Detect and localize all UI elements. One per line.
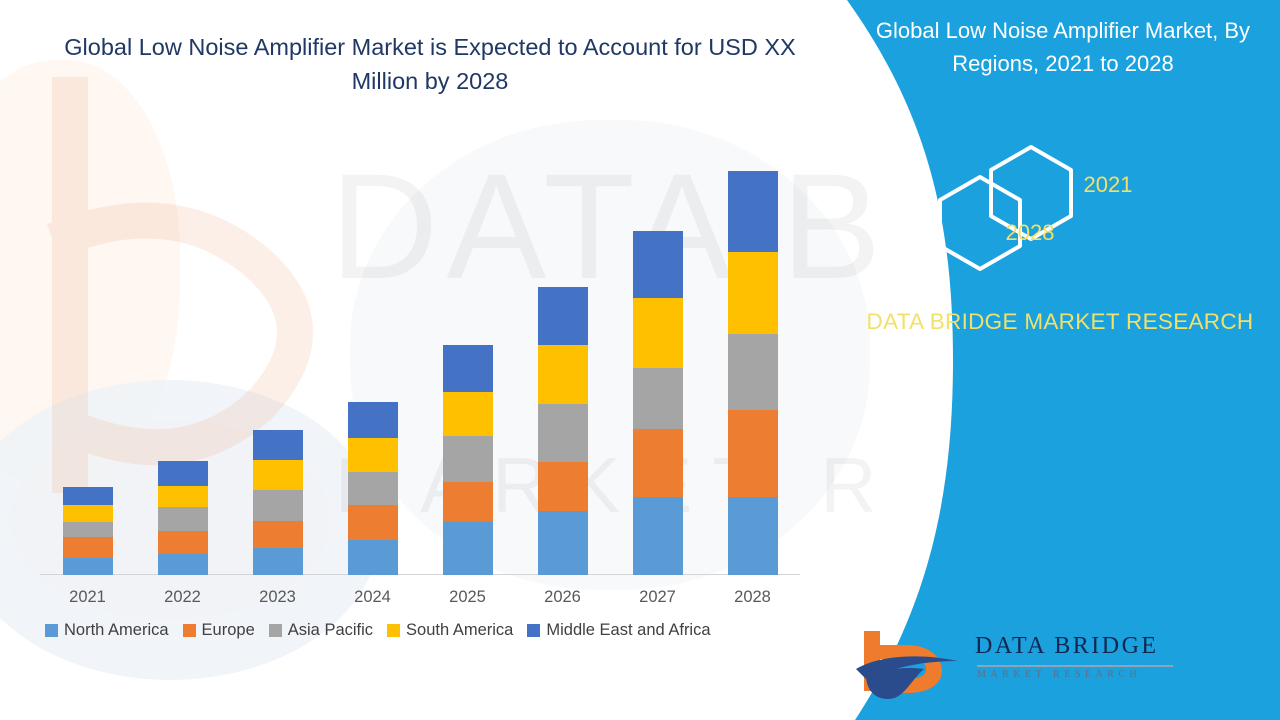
bar-segment[interactable] — [443, 392, 493, 436]
bar-group[interactable] — [348, 402, 398, 575]
bar-segment[interactable] — [63, 537, 113, 558]
x-axis-line — [40, 574, 800, 575]
legend-item[interactable]: South America — [387, 621, 513, 640]
bar-group[interactable] — [253, 430, 303, 575]
hexagon-2021-label: 2021 — [1063, 172, 1153, 198]
legend-item[interactable]: Middle East and Africa — [527, 621, 710, 640]
hexagon-badges — [835, 125, 1280, 270]
bar-segment[interactable] — [63, 558, 113, 575]
chart-panel: DATA BRIDGE MARKET RESEARCH Global Low N… — [0, 0, 900, 720]
bar-segment[interactable] — [443, 436, 493, 483]
x-tick-label: 2028 — [713, 588, 793, 607]
bar-segment[interactable] — [538, 511, 588, 575]
bar-segment[interactable] — [158, 461, 208, 486]
bar-segment[interactable] — [348, 438, 398, 472]
chart-plot-area — [40, 150, 800, 575]
x-tick-label: 2021 — [48, 588, 128, 607]
logo-title-text: DATA BRIDGE — [975, 633, 1159, 660]
bar-segment[interactable] — [63, 487, 113, 506]
legend-label: Europe — [202, 621, 255, 640]
bar-segment[interactable] — [728, 171, 778, 253]
logo-mark-icon — [850, 625, 970, 703]
x-tick-label: 2023 — [238, 588, 318, 607]
legend-swatch — [527, 624, 540, 637]
bar-segment[interactable] — [348, 505, 398, 540]
x-axis-tick-labels: 20212022202320242025202620272028 — [40, 588, 800, 614]
bar-segment[interactable] — [538, 287, 588, 345]
brand-panel: Global Low Noise Amplifier Market, By Re… — [835, 0, 1280, 720]
bar-segment[interactable] — [443, 345, 493, 392]
legend-item[interactable]: Asia Pacific — [269, 621, 373, 640]
legend-swatch — [269, 624, 282, 637]
bar-segment[interactable] — [633, 298, 683, 368]
bar-segment[interactable] — [158, 486, 208, 508]
bar-segment[interactable] — [728, 252, 778, 334]
hexagon-2028-label: 2028 — [985, 220, 1075, 246]
bar-segment[interactable] — [348, 540, 398, 575]
bar-segment[interactable] — [63, 505, 113, 521]
bar-segment[interactable] — [728, 410, 778, 496]
chart-title: Global Low Noise Amplifier Market is Exp… — [40, 30, 820, 98]
bar-segment[interactable] — [538, 404, 588, 462]
bar-segment[interactable] — [633, 368, 683, 429]
legend-label: North America — [64, 621, 169, 640]
legend-swatch — [387, 624, 400, 637]
bar-group[interactable] — [443, 345, 493, 575]
bar-group[interactable] — [158, 461, 208, 575]
logo-divider — [977, 665, 1173, 667]
bar-segment[interactable] — [633, 231, 683, 299]
bar-segment[interactable] — [158, 531, 208, 554]
bar-segment[interactable] — [728, 334, 778, 410]
bar-segment[interactable] — [348, 402, 398, 438]
legend-label: South America — [406, 621, 513, 640]
bar-segment[interactable] — [253, 548, 303, 575]
legend-item[interactable]: Europe — [183, 621, 255, 640]
bar-segment[interactable] — [253, 460, 303, 491]
bar-group[interactable] — [63, 487, 113, 575]
bar-segment[interactable] — [253, 490, 303, 521]
bar-segment[interactable] — [253, 521, 303, 548]
bar-segment[interactable] — [158, 507, 208, 531]
x-tick-label: 2022 — [143, 588, 223, 607]
bar-segment[interactable] — [538, 462, 588, 511]
legend-item[interactable]: North America — [45, 621, 169, 640]
bar-segment[interactable] — [443, 482, 493, 521]
bar-group[interactable] — [633, 231, 683, 575]
bar-segment[interactable] — [158, 554, 208, 575]
bar-segment[interactable] — [348, 472, 398, 506]
logo-subtitle-text: MARKET RESEARCH — [977, 669, 1141, 680]
legend-label: Asia Pacific — [288, 621, 373, 640]
legend-label: Middle East and Africa — [546, 621, 710, 640]
x-tick-label: 2026 — [523, 588, 603, 607]
bar-segment[interactable] — [443, 522, 493, 575]
brand-panel-background — [835, 0, 1280, 720]
bar-segment[interactable] — [728, 497, 778, 575]
hexagon-outline-icons — [835, 125, 1280, 295]
data-bridge-logo: DATA BRIDGE MARKET RESEARCH — [850, 625, 1280, 707]
bar-segment[interactable] — [633, 429, 683, 497]
legend-swatch — [45, 624, 58, 637]
bar-segment[interactable] — [253, 430, 303, 459]
bar-segment[interactable] — [63, 522, 113, 537]
bar-group[interactable] — [538, 287, 588, 575]
x-tick-label: 2024 — [333, 588, 413, 607]
brand-panel-title: Global Low Noise Amplifier Market, By Re… — [863, 14, 1263, 80]
chart-legend: North AmericaEuropeAsia PacificSouth Ame… — [45, 617, 835, 643]
legend-swatch — [183, 624, 196, 637]
x-tick-label: 2027 — [618, 588, 698, 607]
bar-group[interactable] — [728, 171, 778, 575]
bar-segment[interactable] — [538, 345, 588, 404]
bar-segment[interactable] — [633, 497, 683, 575]
x-tick-label: 2025 — [428, 588, 508, 607]
brand-company-name: DATA BRIDGE MARKET RESEARCH — [855, 305, 1265, 340]
